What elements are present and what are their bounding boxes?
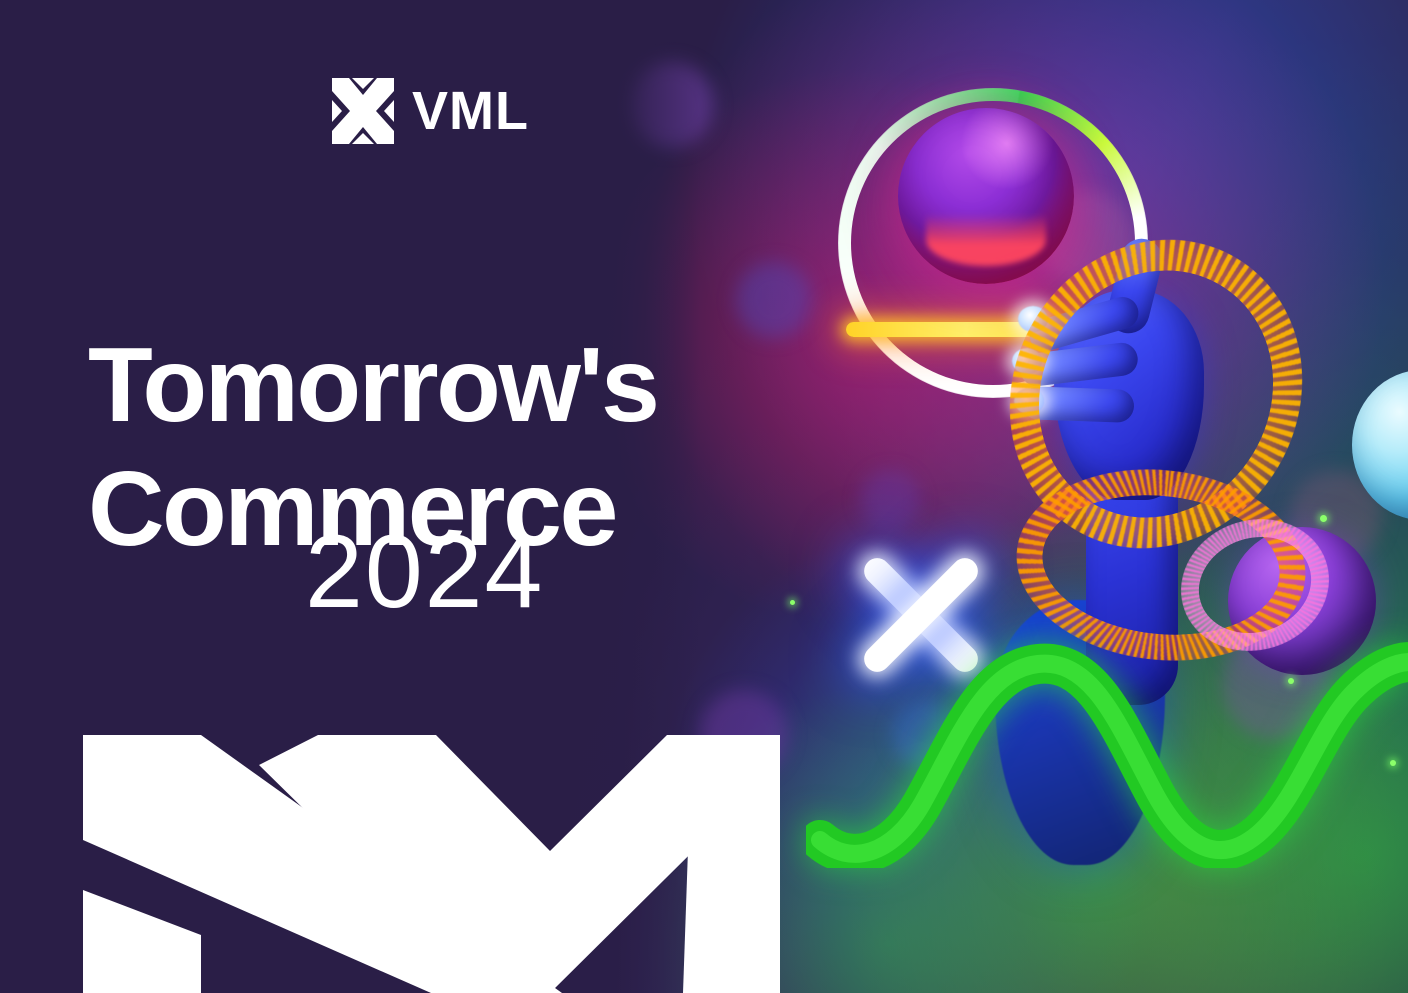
vml-x-chevron-mark-icon [332,78,394,144]
report-cover: VML Tomorrow's Commerce 2024 [0,0,1408,993]
vml-wordmark: VML [412,84,529,138]
cover-year: 2024 [305,520,544,624]
spark-dot [1320,515,1327,522]
vml-chevron-pattern [83,735,780,993]
spark-dot [790,600,795,605]
title-line-1: Tomorrow's [88,323,848,447]
green-wave [806,628,1408,868]
spark-dot [1288,678,1294,684]
bokeh-circle [860,470,920,530]
spark-dot [1390,760,1396,766]
bokeh-circle [628,62,714,148]
vml-logo[interactable]: VML [332,78,529,144]
